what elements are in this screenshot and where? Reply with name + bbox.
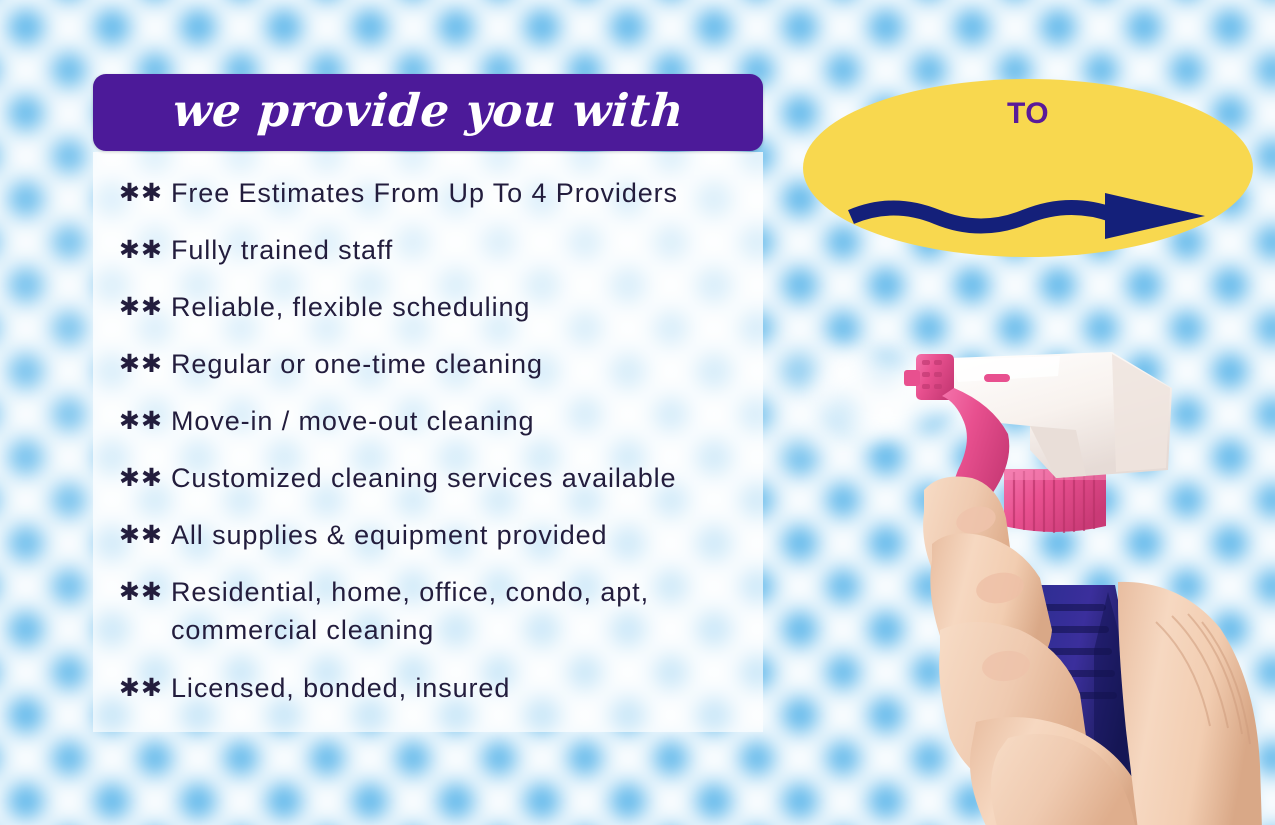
heading-banner: we provide you with (93, 74, 763, 151)
list-item: ✱✱Free Estimates From Up To 4 Providers (93, 174, 763, 212)
list-item-label: Free Estimates From Up To 4 Providers (171, 174, 678, 212)
list-item-label: Reliable, flexible scheduling (171, 288, 530, 326)
list-item: ✱✱Fully trained staff (93, 231, 763, 269)
callout-ellipse: TO (803, 79, 1253, 257)
poster-canvas: we provide you with ✱✱Free Estimates Fro… (0, 0, 1275, 825)
list-item-label: Regular or one-time cleaning (171, 345, 543, 383)
bullet-asterisk-icon: ✱✱ (119, 174, 171, 212)
list-item: ✱✱Move-in / move-out cleaning (93, 402, 763, 440)
bullet-asterisk-icon: ✱✱ (119, 288, 171, 326)
page-title: we provide you with (171, 88, 685, 137)
bullet-asterisk-icon: ✱✱ (119, 516, 171, 554)
list-item: ✱✱Customized cleaning services available (93, 459, 763, 497)
bullet-asterisk-icon: ✱✱ (119, 573, 171, 611)
list-item: ✱✱Regular or one-time cleaning (93, 345, 763, 383)
callout-label: TO (803, 97, 1253, 131)
bullet-asterisk-icon: ✱✱ (119, 231, 171, 269)
list-item: ✱✱Licensed, bonded, insured (93, 669, 763, 707)
services-panel: ✱✱Free Estimates From Up To 4 Providers✱… (93, 152, 763, 732)
bullet-asterisk-icon: ✱✱ (119, 459, 171, 497)
bullet-asterisk-icon: ✱✱ (119, 669, 171, 707)
list-item-label: Residential, home, office, condo, apt, c… (171, 573, 649, 649)
list-item-label: Licensed, bonded, insured (171, 669, 510, 707)
spray-bottle-photo (880, 330, 1275, 825)
list-item: ✱✱All supplies & equipment provided (93, 516, 763, 554)
list-item: ✱✱Residential, home, office, condo, apt,… (93, 573, 763, 649)
bullet-asterisk-icon: ✱✱ (119, 345, 171, 383)
list-item-label: Customized cleaning services available (171, 459, 676, 497)
list-item-label: All supplies & equipment provided (171, 516, 607, 554)
list-item-label: Fully trained staff (171, 231, 393, 269)
list-item-label: Move-in / move-out cleaning (171, 402, 534, 440)
wavy-arrow-right-icon (847, 185, 1209, 243)
list-item: ✱✱Reliable, flexible scheduling (93, 288, 763, 326)
bullet-asterisk-icon: ✱✱ (119, 402, 171, 440)
services-list: ✱✱Free Estimates From Up To 4 Providers✱… (93, 174, 763, 707)
